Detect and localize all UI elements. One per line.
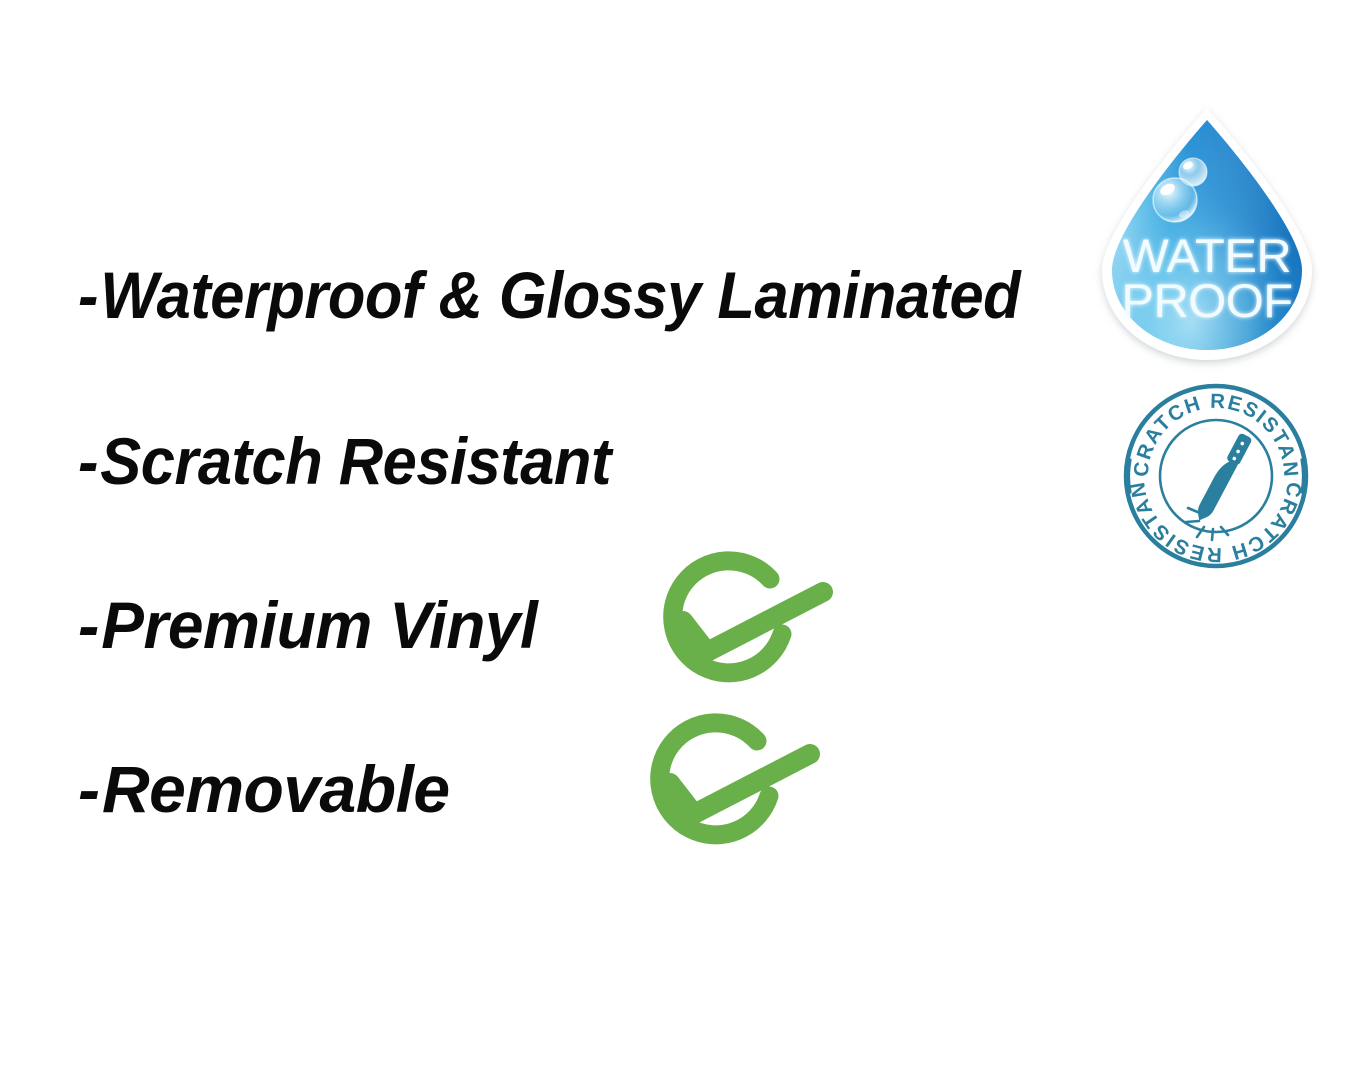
check-icon-removable [632, 718, 827, 858]
check-icon-premium-vinyl [645, 556, 840, 696]
feature-dash: - [78, 752, 102, 826]
water-drop-icon: WATER PROOF [1096, 104, 1318, 366]
knife-icon [1193, 431, 1253, 524]
feature-dash: - [78, 424, 100, 498]
feature-line-removable: -Removable [78, 756, 450, 822]
check-mark [670, 754, 810, 814]
check-circle-icon [645, 556, 840, 696]
feature-label: Premium Vinyl [101, 588, 537, 662]
feature-label: Waterproof & Glossy Laminated [100, 258, 1020, 332]
scratch-resistant-badge: SCRATCH RESISTANT SCRATCH RESISTANT [1122, 382, 1310, 570]
feature-dash: - [78, 588, 101, 662]
check-mark [683, 592, 823, 652]
feature-line-scratch-resistant: -Scratch Resistant [78, 428, 611, 494]
knife-handle [1226, 432, 1253, 466]
check-circle-icon [632, 718, 827, 858]
feature-label: Scratch Resistant [100, 424, 611, 498]
feature-dash: - [78, 258, 100, 332]
waterproof-line2: PROOF [1121, 276, 1292, 328]
product-feature-graphic: -Waterproof & Glossy Laminated -Scratch … [0, 0, 1359, 1080]
feature-label: Removable [102, 752, 450, 826]
feature-line-waterproof: -Waterproof & Glossy Laminated [78, 262, 1020, 328]
scratch-resistant-stamp-icon: SCRATCH RESISTANT SCRATCH RESISTANT [1122, 382, 1310, 570]
waterproof-label: WATER PROOF [1121, 231, 1292, 328]
waterproof-badge: WATER PROOF [1096, 104, 1318, 366]
feature-line-premium-vinyl: -Premium Vinyl [78, 592, 537, 658]
water-bubble-large-icon [1153, 178, 1197, 222]
